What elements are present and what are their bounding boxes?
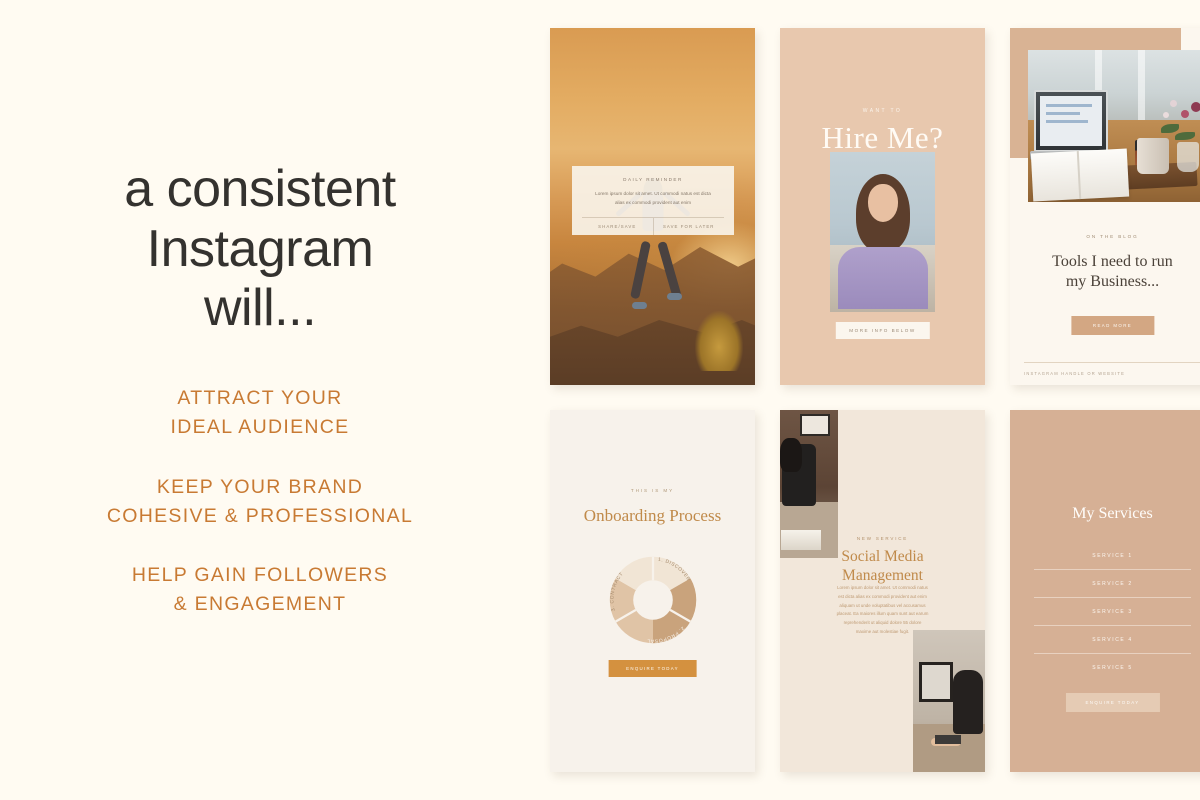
flower-4 [1163,112,1169,118]
social-title: Social Media Management [780,548,985,586]
social-title-line-2: Management [842,567,923,584]
laptop [935,735,961,744]
card-onboarding[interactable]: THIS IS MY Onboarding Process [550,410,755,772]
blog-eyebrow: ON THE BLOG [1010,234,1200,239]
benefit-3-line-1: HELP GAIN FOLLOWERS [107,561,413,590]
blog-footer-handle: INSTAGRAM HANDLE OR WEBSITE [1024,371,1125,376]
flower-3 [1170,100,1177,107]
template-preview-grid: DAILY REMINDER Lorem ipsum dolor sit ame… [520,0,1200,800]
leaf-2 [1175,132,1195,140]
headline-line-1: a consistent [124,160,396,219]
laptop-screen [1034,90,1108,152]
onboarding-title: Onboarding Process [550,506,755,526]
more-info-button[interactable]: MORE INFO BELOW [835,322,929,339]
card-blog[interactable]: ON THE BLOG Tools I need to run my Busin… [1010,28,1200,385]
social-title-line-1: Social Media [841,548,923,565]
card-hire-me[interactable]: WANT TO Hire Me? MORE INFO BELOW [780,28,985,385]
laptop-display [1040,96,1102,146]
ui-line-3 [1046,120,1088,123]
card-services[interactable]: My Services SERVICE 1 SERVICE 2 SERVICE … [1010,410,1200,772]
card-social-media[interactable]: NEW SERVICE Social Media Management Lore… [780,410,985,772]
portrait-photo [830,152,935,312]
donut-svg: 1. DISCOVERY CALL 2. PROPOSAL 3. CONTRAC… [599,546,707,654]
leaf-1 [1161,124,1179,133]
service-item-1[interactable]: SERVICE 1 [1034,542,1191,570]
left-copy-panel: a consistent Instagram will... ATTRACT Y… [0,0,520,800]
onboarding-eyebrow: THIS IS MY [550,488,755,493]
save-for-later-button[interactable]: SAVE FOR LATER [653,218,725,235]
shoe-right [667,293,682,300]
person-reaching [953,670,983,734]
service-item-5[interactable]: SERVICE 5 [1034,654,1191,681]
ui-line-2 [1046,112,1080,115]
headline-line-2: Instagram [124,220,396,279]
service-item-3[interactable]: SERVICE 3 [1034,598,1191,626]
divider [1024,362,1200,363]
benefit-item-1: ATTRACT YOUR IDEAL AUDIENCE [107,384,413,443]
leg-left [630,241,651,300]
service-item-2[interactable]: SERVICE 2 [1034,570,1191,598]
read-more-button[interactable]: READ MORE [1071,316,1154,335]
onboarding-donut-chart: 1. DISCOVERY CALL 2. PROPOSAL 3. CONTRAC… [599,546,707,654]
flower-2 [1181,110,1189,118]
photo-bottom-right [913,630,985,772]
benefit-1-line-2: IDEAL AUDIENCE [107,413,413,442]
blog-title-line-1: Tools I need to run [1052,253,1173,270]
foliage [695,311,743,371]
blog-title-line-2: my Business... [1066,273,1159,290]
benefit-2-line-2: COHESIVE & PROFESSIONAL [107,502,413,531]
service-item-4[interactable]: SERVICE 4 [1034,626,1191,654]
benefits-list: ATTRACT YOUR IDEAL AUDIENCE KEEP YOUR BR… [107,384,413,620]
overlay-title: DAILY REMINDER [582,177,724,182]
framed-art [800,414,830,436]
shoe-left [632,302,647,309]
overlay-body: Lorem ipsum dolor sit amet. Ut commodi n… [582,190,724,217]
notebook-spine [1077,151,1082,199]
enquire-today-button-onboarding[interactable]: ENQUIRE TODAY [608,660,697,677]
window-frame-bar-2 [1138,50,1145,123]
open-notebook [1031,149,1129,202]
glass-vase [1177,142,1199,172]
services-title: My Services [1010,505,1200,523]
ui-line-1 [1046,104,1092,107]
hire-me-eyebrow: WANT TO [780,108,985,114]
overlay-actions: SHARE/SAVE SAVE FOR LATER [582,217,724,235]
share-save-button[interactable]: SHARE/SAVE [582,218,653,235]
donut-slices [609,557,695,643]
flower-bouquet [1159,98,1200,146]
social-body-text: Lorem ipsum dolor sit amet. Ut commodi n… [836,584,929,637]
desk-workspace-photo [1028,50,1200,202]
headline-line-3: will... [124,279,396,338]
services-list: SERVICE 1 SERVICE 2 SERVICE 3 SERVICE 4 … [1034,542,1191,681]
card-daily-reminder[interactable]: DAILY REMINDER Lorem ipsum dolor sit ame… [550,28,755,385]
benefit-3-line-2: & ENGAGEMENT [107,590,413,619]
benefit-item-2: KEEP YOUR BRAND COHESIVE & PROFESSIONAL [107,473,413,532]
person-hair [780,438,802,472]
social-eyebrow: NEW SERVICE [780,536,985,541]
hire-me-title: Hire Me? [780,120,985,156]
leg-right [657,241,682,299]
benefit-2-line-1: KEEP YOUR BRAND [107,473,413,502]
flower-1 [1191,102,1200,112]
donut-hole [633,580,673,620]
face [868,184,898,222]
lilac-sweater [838,247,928,309]
benefit-item-3: HELP GAIN FOLLOWERS & ENGAGEMENT [107,561,413,620]
framed-print [919,662,953,702]
enquire-today-button-services[interactable]: ENQUIRE TODAY [1065,693,1159,712]
blog-title: Tools I need to run my Business... [1010,252,1200,292]
page-headline: a consistent Instagram will... [124,160,396,338]
daily-reminder-overlay: DAILY REMINDER Lorem ipsum dolor sit ame… [572,166,734,235]
benefit-1-line-1: ATTRACT YOUR [107,384,413,413]
